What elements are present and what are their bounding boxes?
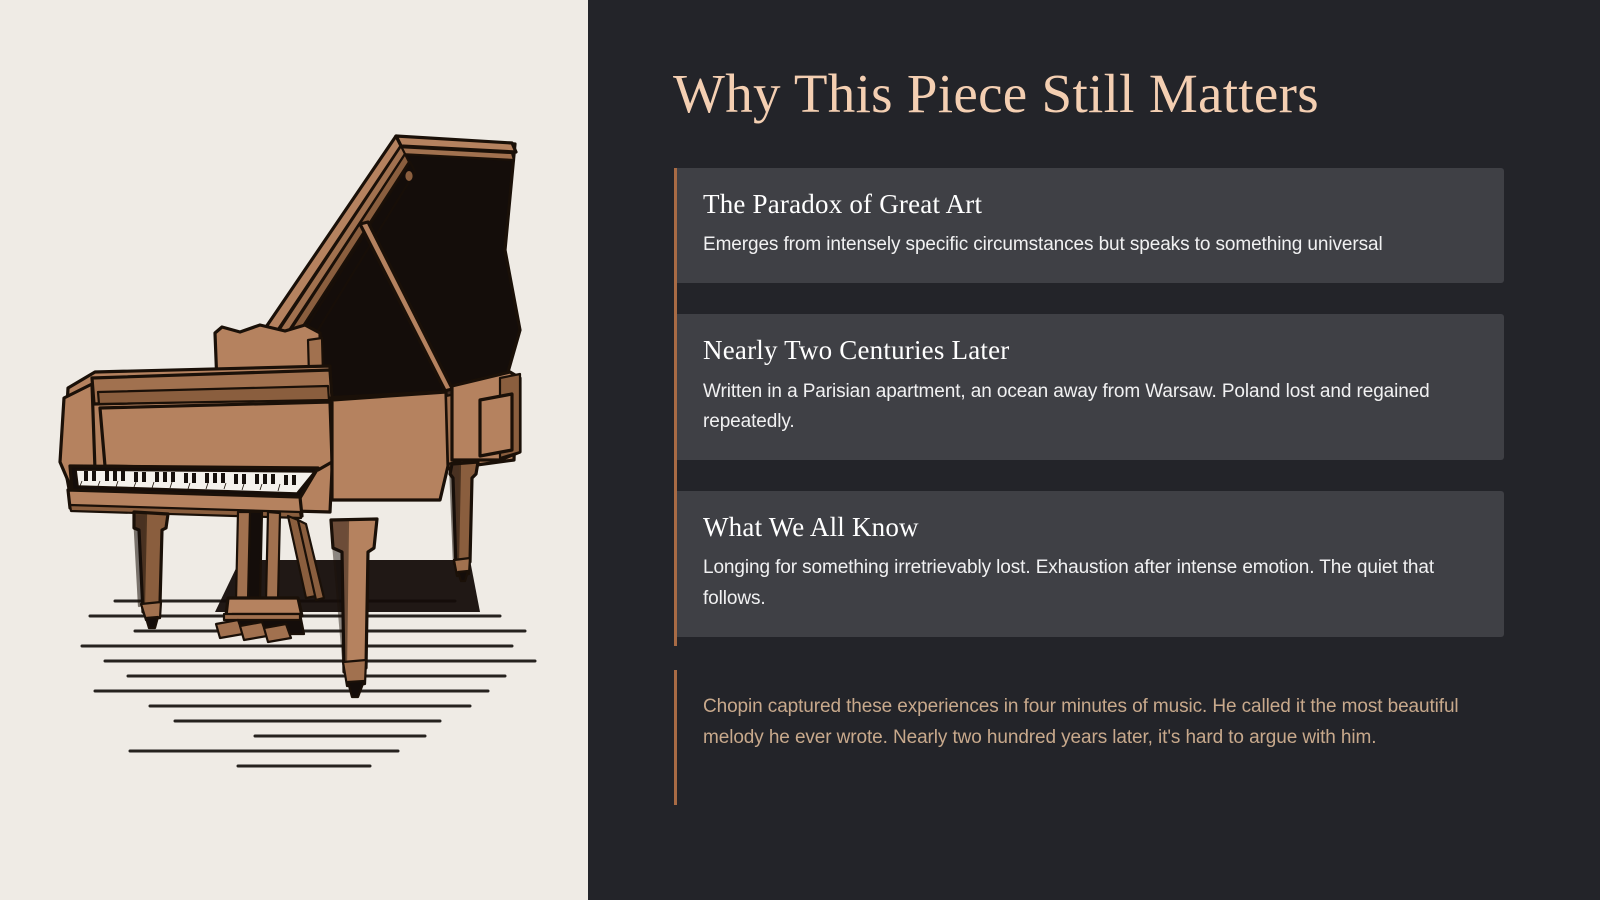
insight-card-body: Emerges from intensely specific circumst… xyxy=(703,230,1478,261)
insight-card-body: Longing for something irretrievably lost… xyxy=(703,553,1478,615)
piano-keyboard xyxy=(68,466,318,518)
lid-hole-detail xyxy=(405,171,412,181)
pedal-sustain xyxy=(264,624,291,642)
pedal-una-corda xyxy=(216,620,243,638)
closing-quote-block: Chopin captured these experiences in fou… xyxy=(674,670,1504,754)
insight-card-stack: The Paradox of Great Art Emerges from in… xyxy=(674,168,1504,637)
grand-piano-illustration: .ol { stroke:#1A1008; stroke-width:3.2; … xyxy=(0,0,588,900)
insight-card-title: What We All Know xyxy=(703,511,1478,543)
insight-card-title: Nearly Two Centuries Later xyxy=(703,334,1478,366)
pedal-sostenuto xyxy=(240,622,267,640)
insight-card[interactable]: The Paradox of Great Art Emerges from in… xyxy=(677,168,1504,283)
closing-quote-text: Chopin captured these experiences in fou… xyxy=(703,670,1504,754)
page-title: Why This Piece Still Matters xyxy=(673,62,1319,125)
insight-card[interactable]: What We All Know Longing for something i… xyxy=(677,491,1504,637)
insight-card[interactable]: Nearly Two Centuries Later Written in a … xyxy=(677,314,1504,460)
illustration-panel: .ol { stroke:#1A1008; stroke-width:3.2; … xyxy=(0,0,588,900)
insight-card-title: The Paradox of Great Art xyxy=(703,188,1478,220)
insight-card-body: Written in a Parisian apartment, an ocea… xyxy=(703,377,1478,439)
content-panel: Why This Piece Still Matters The Paradox… xyxy=(588,0,1600,900)
